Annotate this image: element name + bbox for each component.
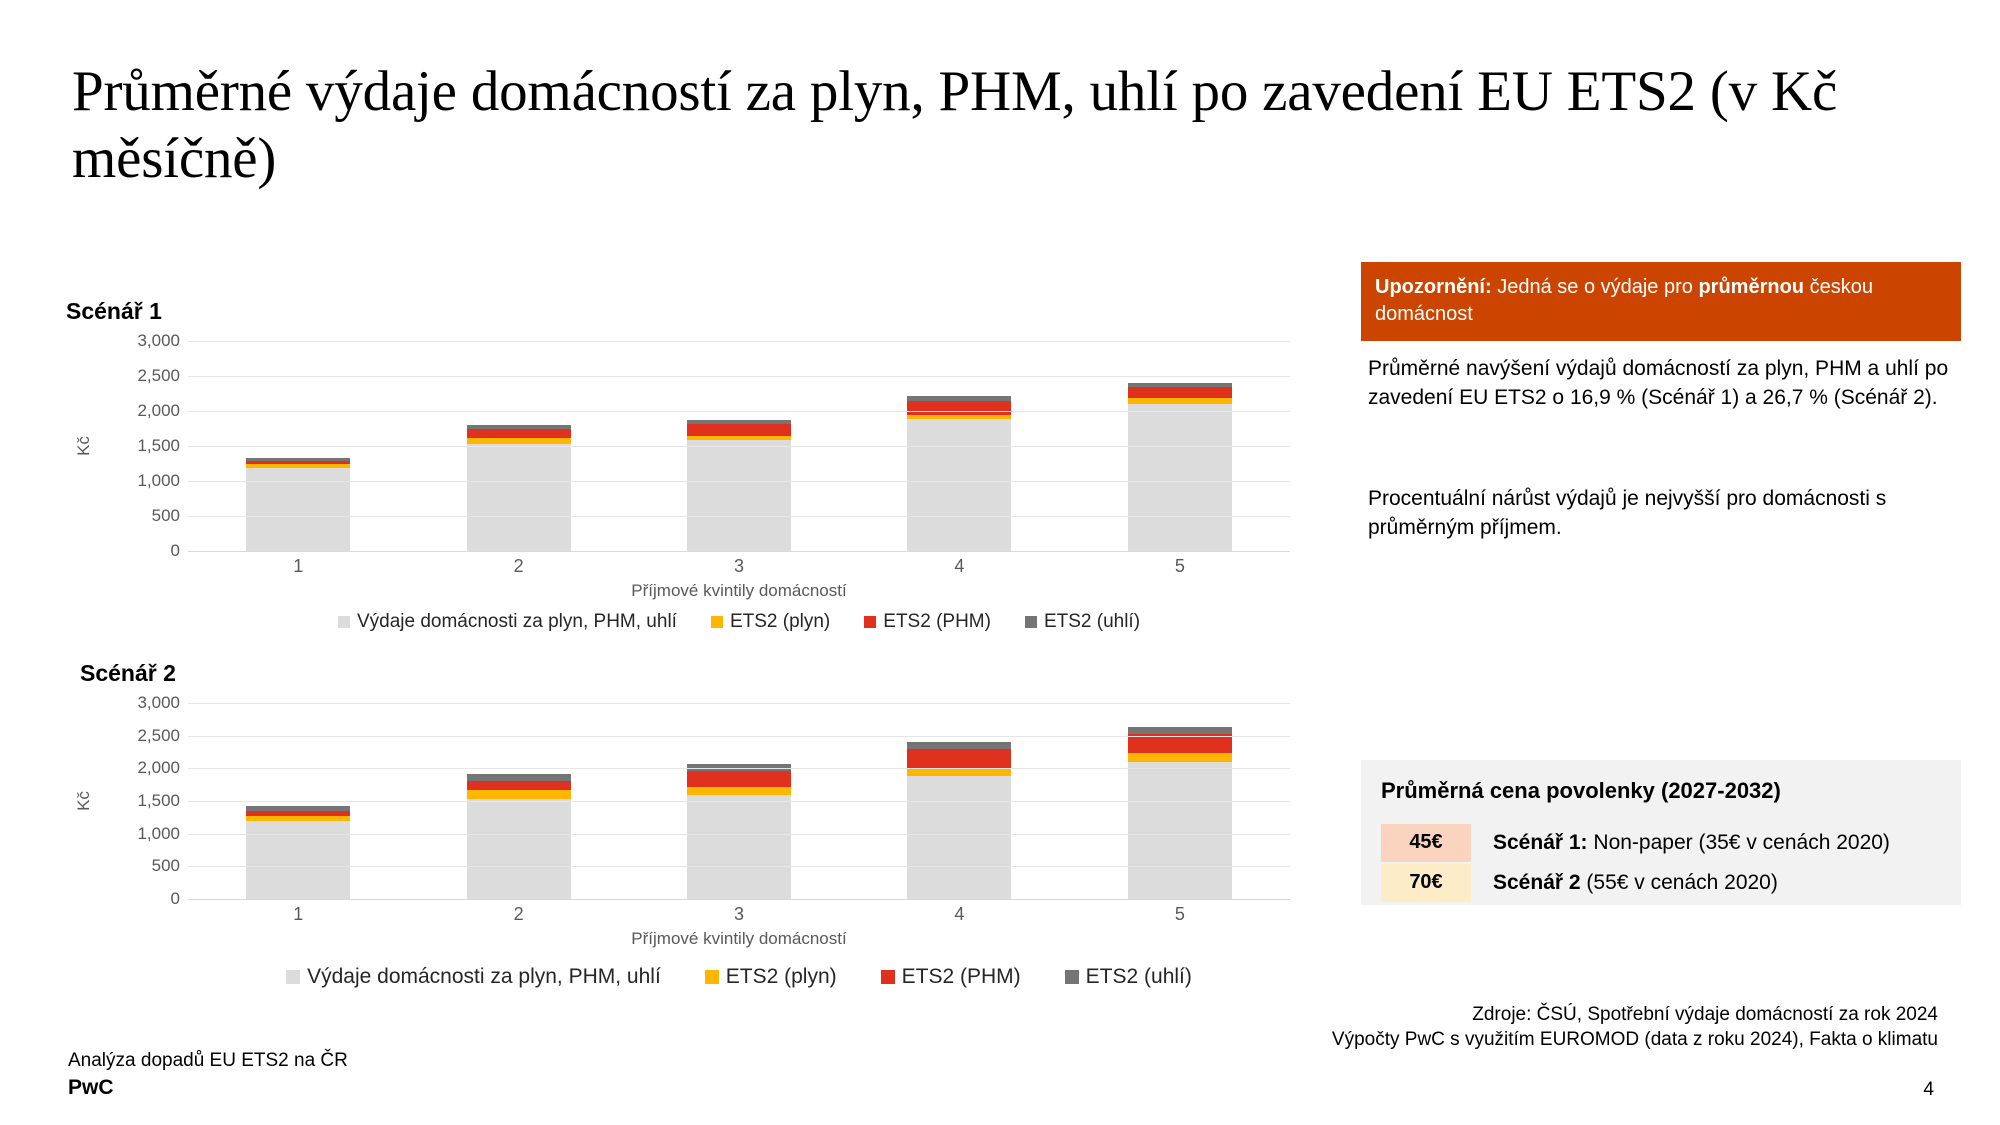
allowance-price-row: 45€Scénář 1: Non-paper (35€ v cenách 202… (1381, 824, 1941, 862)
bar-segment (1128, 762, 1232, 899)
legend-item[interactable]: ETS2 (uhlí) (1025, 611, 1140, 633)
bar-segment (907, 401, 1011, 416)
legend-item[interactable]: ETS2 (uhlí) (1065, 965, 1192, 989)
y-axis-tick-labels-2: 05001,0001,5002,0002,5003,000 (122, 703, 180, 899)
stacked-bar[interactable] (907, 396, 1011, 551)
bar-segment (907, 419, 1011, 551)
callout-label: Upozornění: (1375, 276, 1492, 298)
y-axis-tick-label: 500 (152, 856, 180, 876)
bar-segment (687, 440, 791, 551)
bar-segment (687, 771, 791, 787)
grid-line (188, 703, 1290, 704)
legend-swatch (338, 616, 350, 628)
y-axis-tick-label: 500 (152, 506, 180, 526)
allowance-price-description: Scénář 1: Non-paper (35€ v cenách 2020) (1471, 824, 1890, 862)
grid-line (188, 516, 1290, 517)
stacked-bar[interactable] (246, 806, 350, 899)
allowance-price-detail: (55€ v cenách 2020) (1581, 871, 1778, 894)
legend-swatch (881, 970, 895, 984)
stacked-bar[interactable] (687, 420, 791, 551)
allowance-price-box: Průměrná cena povolenky (2027-2032) 45€S… (1361, 760, 1961, 905)
allowance-price-scenario-name: Scénář 2 (1493, 871, 1581, 894)
chart-scenario-2: Scénář 2 Kč 05001,0001,5002,0002,5003,00… (66, 660, 1316, 1020)
legend-label: ETS2 (uhlí) (1086, 965, 1192, 989)
bar-segment (1128, 727, 1232, 734)
x-axis-tick-label: 5 (1070, 904, 1290, 925)
grid-line (188, 376, 1290, 377)
y-axis-tick-label: 1,500 (137, 436, 180, 456)
stacked-bar[interactable] (907, 742, 1011, 899)
chart-legend-1: Výdaje domácnosti za plyn, PHM, uhlíETS2… (188, 611, 1290, 633)
y-axis-tick-label: 0 (171, 889, 180, 909)
bar-segment (1128, 753, 1232, 761)
bar-segment (907, 749, 1011, 769)
grid-line (188, 834, 1290, 835)
legend-label: Výdaje domácnosti za plyn, PHM, uhlí (357, 611, 677, 633)
x-axis-tick-label: 4 (849, 904, 1069, 925)
allowance-price-description: Scénář 2 (55€ v cenách 2020) (1471, 864, 1778, 902)
stacked-bar[interactable] (1128, 727, 1232, 899)
y-axis-tick-label: 2,000 (137, 401, 180, 421)
y-axis-tick-label: 2,500 (137, 366, 180, 386)
grid-line (188, 411, 1290, 412)
allowance-price-detail: Non-paper (35€ v cenách 2020) (1588, 831, 1890, 854)
footer-brand: PwC (68, 1074, 348, 1101)
warning-callout: Upozornění: Jedná se o výdaje pro průměr… (1361, 262, 1961, 341)
y-axis-tick-label: 1,000 (137, 824, 180, 844)
legend-swatch (705, 970, 719, 984)
x-axis-tick-label: 3 (629, 556, 849, 577)
bar-segment (687, 424, 791, 435)
plot-wrapper-2: Kč 05001,0001,5002,0002,5003,000 12345 P… (66, 703, 1316, 989)
bar-segment (467, 429, 571, 437)
stacked-bar[interactable] (1128, 383, 1232, 551)
bar-segment (467, 790, 571, 799)
bar-segment (907, 768, 1011, 776)
allowance-price-scenario-name: Scénář 1: (1493, 831, 1588, 854)
page-title: Průměrné výdaje domácností za plyn, PHM,… (72, 58, 1872, 193)
legend-swatch (864, 616, 876, 628)
legend-label: ETS2 (plyn) (730, 611, 830, 633)
plot-wrapper-1: Kč 05001,0001,5002,0002,5003,000 12345 P… (66, 341, 1316, 633)
bar-segment (1128, 734, 1232, 753)
legend-label: ETS2 (uhlí) (1044, 611, 1140, 633)
legend-item[interactable]: ETS2 (plyn) (705, 965, 837, 989)
callout-emphasis: průměrnou (1698, 276, 1804, 298)
y-axis-title-2: Kč (74, 791, 94, 811)
x-axis-tick-label: 2 (408, 556, 628, 577)
sources-line-2: Výpočty PwC s využitím EUROMOD (data z r… (1332, 1027, 1938, 1053)
chart-title-scenario-2: Scénář 2 (80, 660, 1316, 687)
bar-segment (1128, 404, 1232, 551)
grid-line (188, 768, 1290, 769)
bar-segment (467, 781, 571, 790)
x-axis-tick-label: 4 (849, 556, 1069, 577)
allowance-price-row: 70€Scénář 2 (55€ v cenách 2020) (1381, 864, 1941, 902)
y-axis-tick-label: 1,500 (137, 791, 180, 811)
legend-item[interactable]: ETS2 (PHM) (864, 611, 991, 633)
footer-deck-name: Analýza dopadů EU ETS2 na ČR (68, 1049, 348, 1074)
bar-segment (467, 799, 571, 899)
x-axis-tick-label: 1 (188, 904, 408, 925)
legend-swatch (1065, 970, 1079, 984)
grid-line (188, 736, 1290, 737)
x-axis-title-2: Příjmové kvintily domácností (188, 929, 1290, 949)
grid-line (188, 341, 1290, 342)
allowance-price-chip: 70€ (1381, 864, 1471, 902)
y-axis-tick-label: 0 (171, 541, 180, 561)
grid-line (188, 481, 1290, 482)
legend-label: ETS2 (PHM) (902, 965, 1021, 989)
chart-scenario-1: Scénář 1 Kč 05001,0001,5002,0002,5003,00… (66, 298, 1316, 658)
summary-paragraph-1: Průměrné navýšení výdajů domácností za p… (1368, 355, 1968, 413)
legend-item[interactable]: ETS2 (PHM) (881, 965, 1021, 989)
bar-segment (467, 444, 571, 551)
bar-segment (687, 787, 791, 795)
y-axis-tick-label: 3,000 (137, 331, 180, 351)
sources-line-1: Zdroje: ČSÚ, Spotřební výdaje domácností… (1332, 1002, 1938, 1028)
stacked-bar[interactable] (467, 425, 571, 551)
legend-item[interactable]: Výdaje domácnosti za plyn, PHM, uhlí (286, 965, 661, 989)
sources-note: Zdroje: ČSÚ, Spotřební výdaje domácností… (1332, 1002, 1938, 1053)
footer-left: Analýza dopadů EU ETS2 na ČR PwC (68, 1049, 348, 1101)
slide-root: Průměrné výdaje domácností za plyn, PHM,… (0, 0, 2000, 1125)
allowance-price-chip: 45€ (1381, 824, 1471, 862)
grid-line (188, 446, 1290, 447)
bar-segment (687, 795, 791, 899)
legend-label: Výdaje domácnosti za plyn, PHM, uhlí (307, 965, 661, 989)
bar-segment (907, 776, 1011, 899)
chart-title-scenario-1: Scénář 1 (66, 298, 1316, 325)
y-axis-tick-label: 1,000 (137, 471, 180, 491)
plot-area-1 (188, 341, 1290, 552)
legend-label: ETS2 (plyn) (726, 965, 837, 989)
stacked-bar[interactable] (467, 774, 571, 899)
legend-swatch (1025, 616, 1037, 628)
x-axis-tick-label: 2 (408, 904, 628, 925)
bar-segment (907, 742, 1011, 749)
allowance-price-rows: 45€Scénář 1: Non-paper (35€ v cenách 202… (1381, 824, 1941, 902)
x-axis-tick-label: 5 (1070, 556, 1290, 577)
y-axis-tick-labels-1: 05001,0001,5002,0002,5003,000 (122, 341, 180, 551)
grid-line (188, 866, 1290, 867)
bar-segment (1128, 387, 1232, 399)
callout-text-a: Jedná se o výdaje pro (1492, 276, 1699, 298)
x-axis-tick-labels-2: 12345 (188, 904, 1290, 925)
y-axis-tick-label: 2,500 (137, 726, 180, 746)
y-axis-tick-label: 2,000 (137, 758, 180, 778)
x-axis-tick-labels-1: 12345 (188, 556, 1290, 577)
legend-item[interactable]: Výdaje domácnosti za plyn, PHM, uhlí (338, 611, 677, 633)
legend-swatch (711, 616, 723, 628)
x-axis-tick-label: 1 (188, 556, 408, 577)
allowance-price-title: Průměrná cena povolenky (2027-2032) (1381, 778, 1941, 804)
x-axis-title-1: Příjmové kvintily domácností (188, 581, 1290, 601)
y-axis-title-1: Kč (74, 436, 94, 456)
plot-area-2 (188, 703, 1290, 900)
page-number: 4 (1923, 1079, 1934, 1101)
x-axis-tick-label: 3 (629, 904, 849, 925)
legend-label: ETS2 (PHM) (883, 611, 991, 633)
stacked-bar[interactable] (687, 764, 791, 899)
y-axis-tick-label: 3,000 (137, 693, 180, 713)
summary-paragraph-2: Procentuální nárůst výdajů je nejvyšší p… (1368, 485, 1968, 543)
legend-item[interactable]: ETS2 (plyn) (711, 611, 830, 633)
grid-line (188, 801, 1290, 802)
legend-swatch (286, 970, 300, 984)
chart-legend-2: Výdaje domácnosti za plyn, PHM, uhlíETS2… (188, 965, 1290, 989)
stacked-bar[interactable] (246, 458, 350, 551)
